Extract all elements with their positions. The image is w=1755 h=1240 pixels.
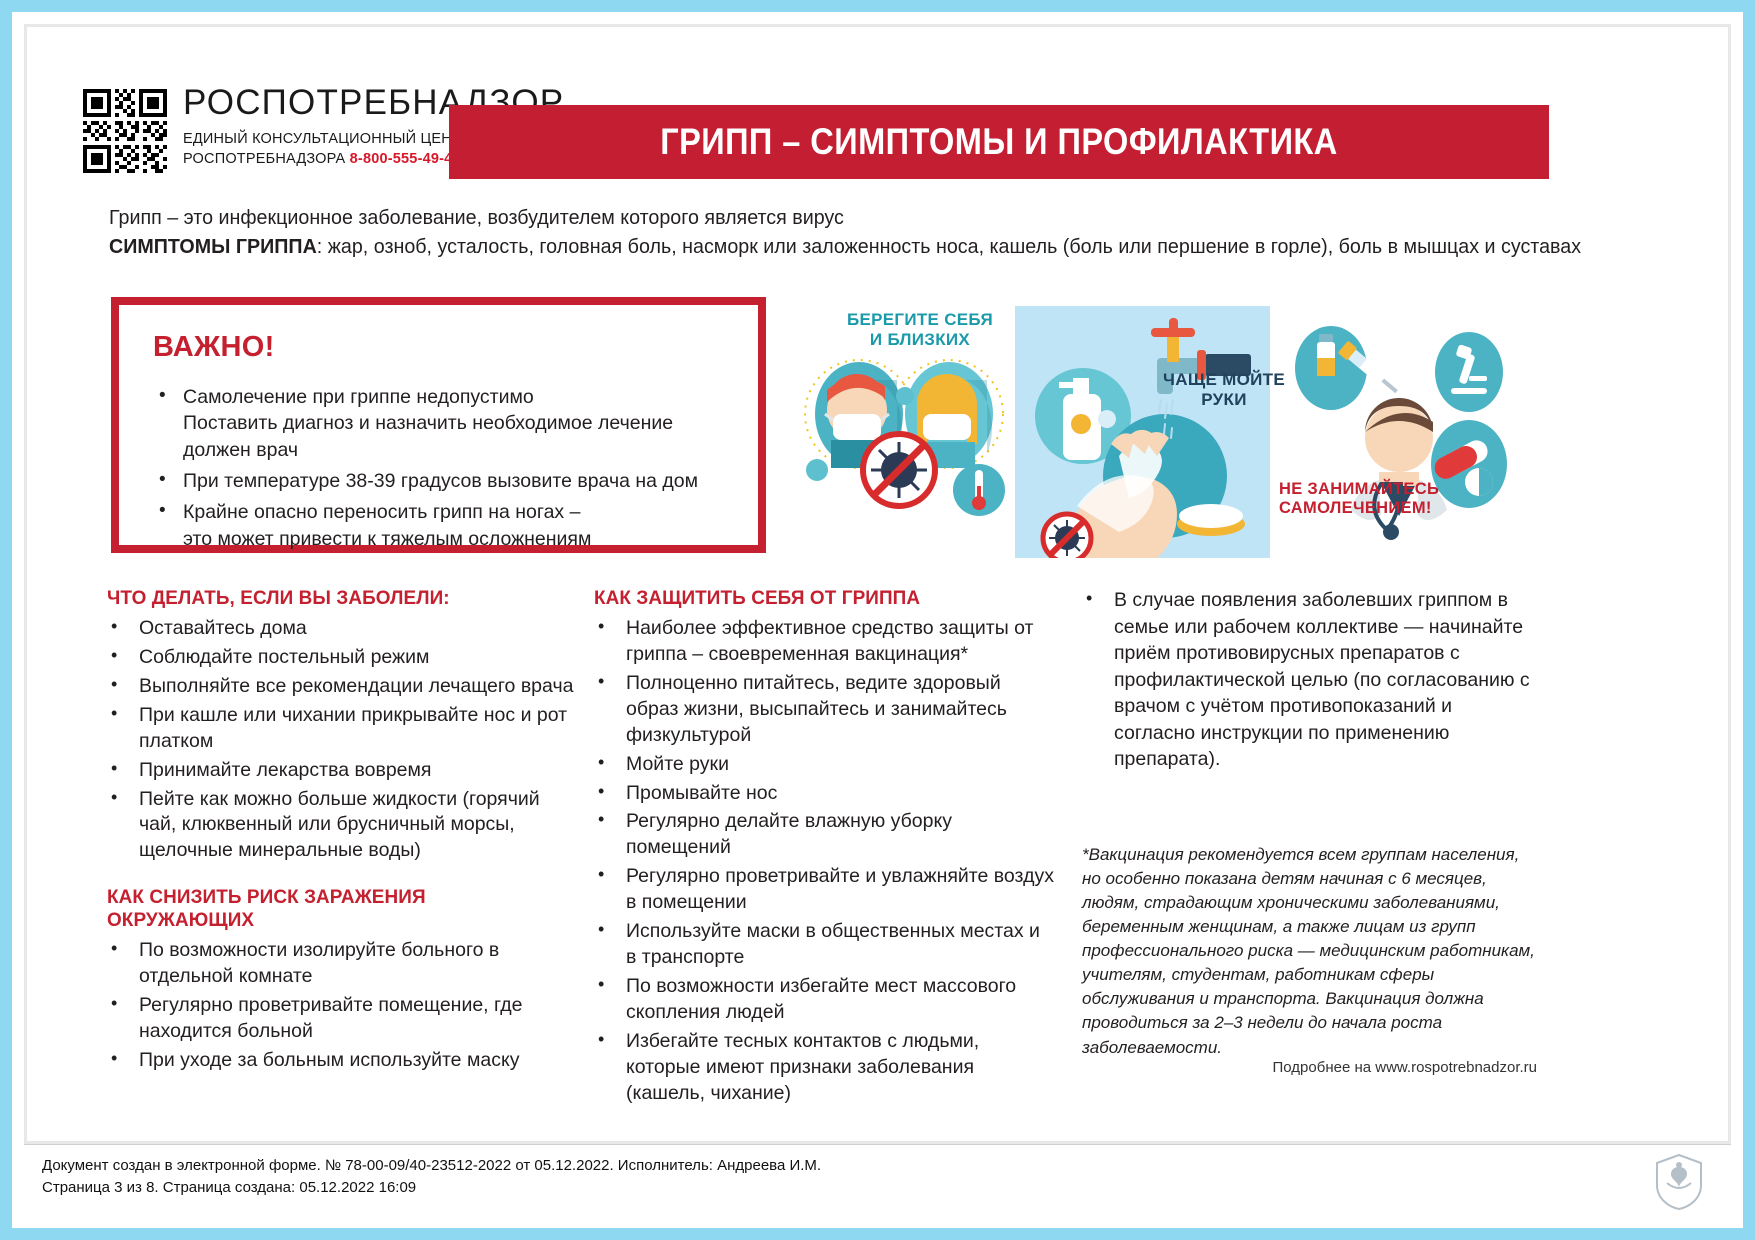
list-item: Регулярно проветривайте помещение, где н… bbox=[107, 993, 577, 1045]
qr-code-icon bbox=[83, 89, 167, 173]
brand-sub-line1: ЕДИНЫЙ КОНСУЛЬТАЦИОННЫЙ ЦЕНТР bbox=[183, 131, 471, 147]
list-item: Полноценно питайтесь, ведите здоровый об… bbox=[594, 671, 1054, 749]
label-protect-line1: БЕРЕГИТЕ СЕБЯ bbox=[847, 310, 993, 329]
label-protect-yourself: БЕРЕГИТЕ СЕБЯ И БЛИЗКИХ bbox=[825, 310, 1015, 350]
poster-sheet: РОСПОТРЕБНАДЗОР ЕДИНЫЙ КОНСУЛЬТАЦИОННЫЙ … bbox=[24, 24, 1731, 1144]
list-item: По возможности избегайте мест массового … bbox=[594, 974, 1054, 1026]
doctor-illustration bbox=[1273, 306, 1527, 558]
title-banner: ГРИПП – СИМПТОМЫ И ПРОФИЛАКТИКА bbox=[449, 105, 1549, 179]
list-item: Избегайте тесных контактов с людьми, кот… bbox=[594, 1029, 1054, 1107]
column-prophylaxis: В случае появления заболевших гриппом в … bbox=[1082, 587, 1537, 1060]
poster-page: РОСПОТРЕБНАДЗОР ЕДИНЫЙ КОНСУЛЬТАЦИОННЫЙ … bbox=[0, 0, 1755, 1240]
section-heading-what-to-do: ЧТО ДЕЛАТЬ, ЕСЛИ ВЫ ЗАБОЛЕЛИ: bbox=[107, 587, 563, 610]
list-what-to-do: Оставайтесь дома Соблюдайте постельный р… bbox=[107, 616, 577, 864]
more-info-link[interactable]: Подробнее на www.rospotrebnadzor.ru bbox=[1273, 1059, 1538, 1076]
list-item: При температуре 38-39 градусов вызовите … bbox=[153, 468, 728, 494]
vaccination-footnote: *Вакцинация рекомендуется всем группам н… bbox=[1082, 843, 1537, 1060]
list-item: Принимайте лекарства вовремя bbox=[107, 758, 577, 784]
label-wash-line2: РУКИ bbox=[1201, 390, 1247, 409]
list-item: Наиболее эффективное средство защиты от … bbox=[594, 616, 1054, 668]
list-item: При уходе за больным используйте маску bbox=[107, 1048, 577, 1074]
item-main: Крайне опасно переносить грипп на ногах … bbox=[183, 501, 580, 523]
intro-line-2: СИМПТОМЫ ГРИППА: жар, озноб, усталость, … bbox=[109, 232, 1472, 261]
label-no-self-medication: НЕ ЗАНИМАЙТЕСЬ САМОЛЕЧЕНИЕМ! bbox=[1279, 480, 1479, 519]
important-list: Самолечение при гриппе недопустимо Поста… bbox=[153, 384, 728, 552]
list-item: Соблюдайте постельный режим bbox=[107, 645, 577, 671]
list-item: Выполняйте все рекомендации лечащего вра… bbox=[107, 674, 577, 700]
column-how-to-protect: КАК ЗАЩИТИТЬ СЕБЯ ОТ ГРИППА Наиболее эфф… bbox=[594, 587, 1054, 1129]
list-prophylaxis: В случае появления заболевших гриппом в … bbox=[1082, 587, 1537, 773]
list-item: Промывайте нос bbox=[594, 781, 1054, 807]
label-wash-hands: ЧАЩЕ МОЙТЕ РУКИ bbox=[1149, 370, 1299, 410]
section-heading-reduce-risk: КАК СНИЗИТЬ РИСК ЗАРАЖЕНИЯ ОКРУЖАЮЩИХ bbox=[107, 886, 563, 932]
footer-line-1: Документ создан в электронной форме. № 7… bbox=[42, 1155, 1713, 1177]
intro-line-1: Грипп – это инфекционное заболевание, во… bbox=[109, 203, 1472, 232]
intro-block: Грипп – это инфекционное заболевание, во… bbox=[109, 203, 1529, 261]
list-item: В случае появления заболевших гриппом в … bbox=[1082, 587, 1537, 773]
symptoms-text: : жар, озноб, усталость, головная боль, … bbox=[317, 235, 1581, 258]
illustration-area: БЕРЕГИТЕ СЕБЯ И БЛИЗКИХ ЧАЩЕ МОЙТЕ РУКИ … bbox=[787, 292, 1527, 557]
brand-sub-line2: РОСПОТРЕБНАДЗОРА bbox=[183, 151, 345, 167]
page-title: ГРИПП – СИМПТОМЫ И ПРОФИЛАКТИКА bbox=[660, 121, 1338, 163]
column-what-to-do: ЧТО ДЕЛАТЬ, ЕСЛИ ВЫ ЗАБОЛЕЛИ: Оставайтес… bbox=[107, 587, 577, 1096]
item-sub: это может привести к тяжелым осложнениям bbox=[183, 526, 728, 552]
coat-of-arms-icon bbox=[1653, 1153, 1705, 1211]
hotline-phone[interactable]: 8-800-555-49-43 bbox=[350, 151, 461, 167]
label-protect-line2: И БЛИЗКИХ bbox=[870, 330, 970, 349]
wash-hands-illustration bbox=[1015, 306, 1270, 558]
item-main: Самолечение при гриппе недопустимо bbox=[183, 386, 534, 408]
symptoms-label: СИМПТОМЫ ГРИППА bbox=[109, 235, 317, 258]
important-heading: ВАЖНО! bbox=[153, 331, 728, 364]
list-item: Оставайтесь дома bbox=[107, 616, 577, 642]
list-how-to-protect: Наиболее эффективное средство защиты от … bbox=[594, 616, 1054, 1107]
label-wash-line1: ЧАЩЕ МОЙТЕ bbox=[1163, 370, 1285, 389]
list-item: Пейте как можно больше жидкости (горячий… bbox=[107, 787, 577, 865]
list-item: Регулярно делайте влажную уборку помещен… bbox=[594, 809, 1054, 861]
footer-line-2: Страница 3 из 8. Страница создана: 05.12… bbox=[42, 1177, 1713, 1199]
item-sub: Поставить диагноз и назначить необходимо… bbox=[183, 410, 728, 463]
document-footer: Документ создан в электронной форме. № 7… bbox=[24, 1144, 1731, 1216]
list-item: Используйте маски в общественных местах … bbox=[594, 919, 1054, 971]
list-reduce-risk: По возможности изолируйте больного в отд… bbox=[107, 938, 577, 1074]
list-item: При кашле или чихании прикрывайте нос и … bbox=[107, 703, 577, 755]
list-item: Крайне опасно переносить грипп на ногах … bbox=[153, 499, 728, 552]
important-box: ВАЖНО! Самолечение при гриппе недопустим… bbox=[111, 297, 766, 553]
list-item: По возможности изолируйте больного в отд… bbox=[107, 938, 577, 990]
list-item: Регулярно проветривайте и увлажняйте воз… bbox=[594, 864, 1054, 916]
section-heading-how-to-protect: КАК ЗАЩИТИТЬ СЕБЯ ОТ ГРИППА bbox=[594, 587, 1040, 610]
list-item: Самолечение при гриппе недопустимо Поста… bbox=[153, 384, 728, 463]
poster-header: РОСПОТРЕБНАДЗОР ЕДИНЫЙ КОНСУЛЬТАЦИОННЫЙ … bbox=[27, 27, 1728, 187]
label-noself-line2: САМОЛЕЧЕНИЕМ! bbox=[1279, 499, 1432, 517]
label-noself-line1: НЕ ЗАНИМАЙТЕСЬ bbox=[1279, 480, 1439, 498]
list-item: Мойте руки bbox=[594, 752, 1054, 778]
item-main: При температуре 38-39 градусов вызовите … bbox=[183, 470, 698, 492]
